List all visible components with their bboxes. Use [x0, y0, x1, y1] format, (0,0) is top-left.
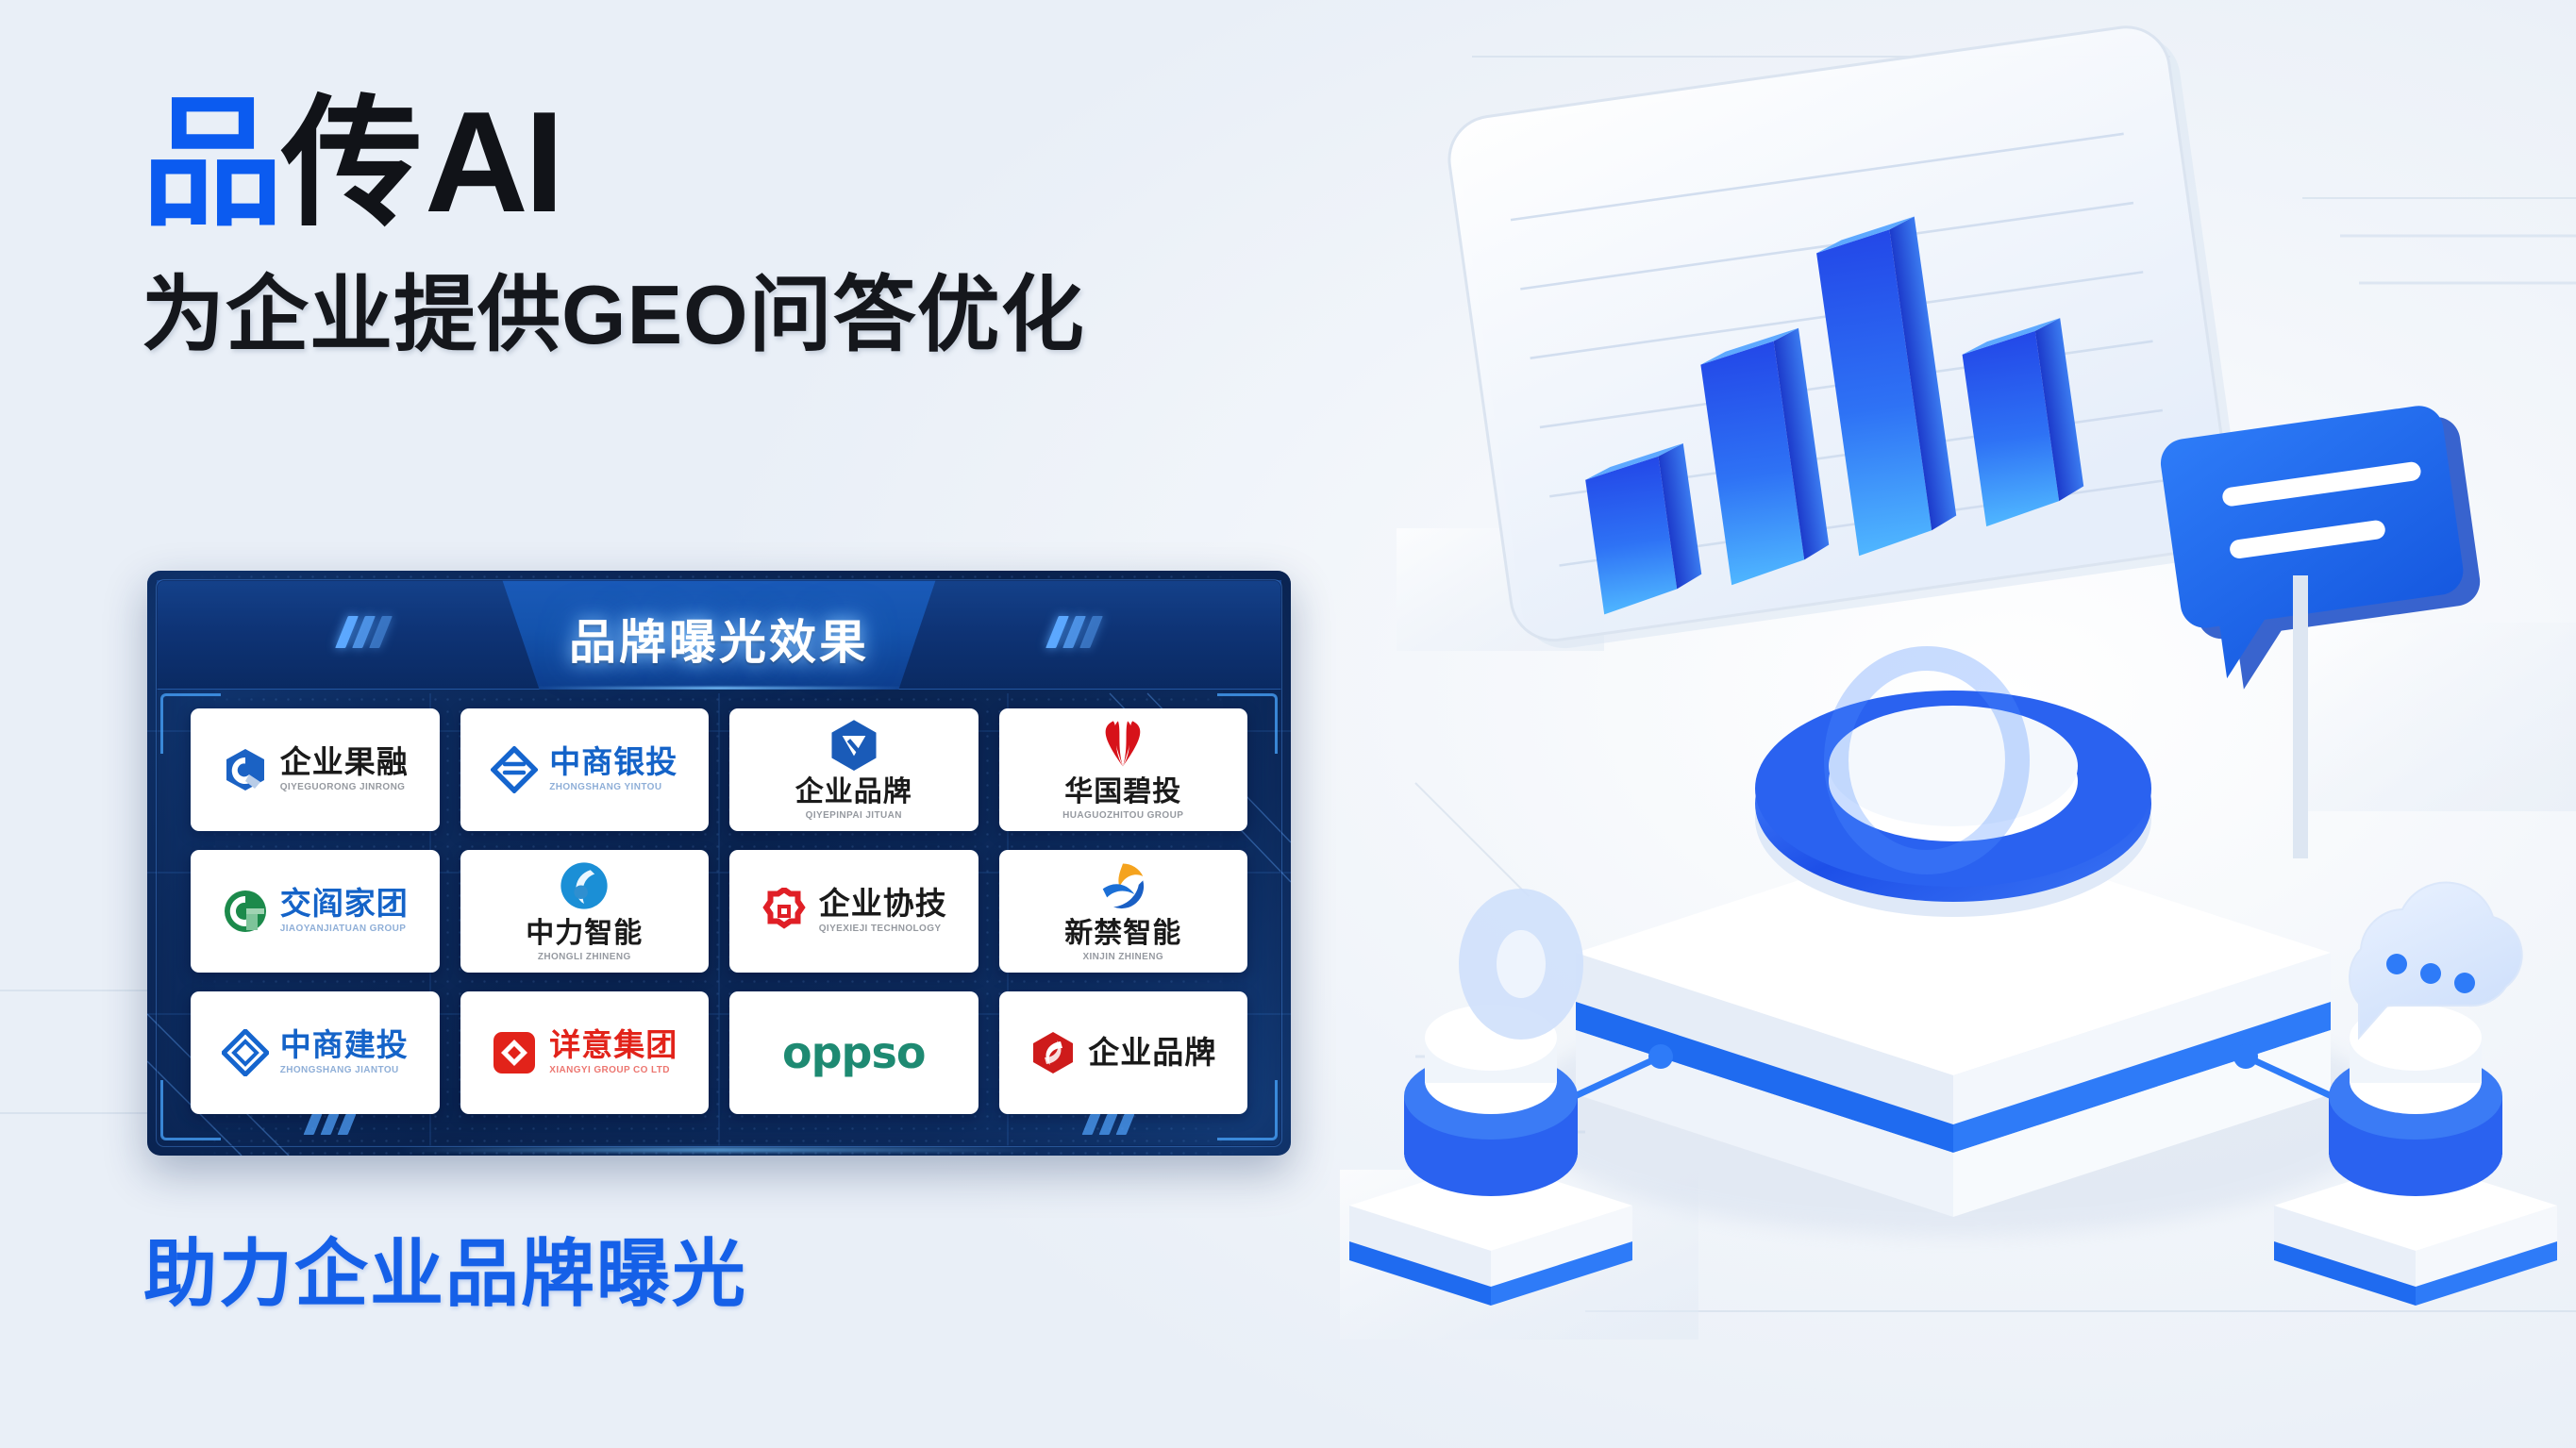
- logo-content: 中商银投ZHONGSHANG YINTOU: [481, 741, 687, 800]
- logo-name-cn: 企业协技: [819, 888, 947, 921]
- red-gear-icon: [761, 888, 808, 935]
- logo-name-cn: 企业品牌: [795, 777, 912, 807]
- logo-content: 交阎家团JIAOYANJIATUAN GROUP: [212, 882, 418, 941]
- logo-content: 中商建投ZHONGSHANG JIANTOU: [212, 1024, 418, 1083]
- logo-content: 详意集团XIANGYI GROUP CO LTD: [481, 1024, 687, 1083]
- logo-name-en: QIYEGUORONG JINRONG: [280, 781, 406, 793]
- logo-name-en: XIANGYI GROUP CO LTD: [549, 1064, 670, 1076]
- logo-card[interactable]: 企业协技QIYEXIEJI TECHNOLOGY: [729, 850, 979, 973]
- logo-name-en: XINJIN ZHINENG: [1082, 951, 1163, 963]
- logo-content: oppso: [773, 1022, 934, 1084]
- panel-bottom-glow: [399, 1148, 1040, 1152]
- logo-card[interactable]: 企业果融QIYEGUORONG JINRONG: [191, 708, 440, 831]
- logo-card[interactable]: 新禁智能XINJIN ZHINENG: [999, 850, 1248, 973]
- logo-name-en: ZHONGSHANG YINTOU: [549, 781, 661, 793]
- logo-content: 企业果融QIYEGUORONG JINRONG: [212, 741, 418, 800]
- panel-header-bar: 品牌曝光效果: [157, 580, 1281, 690]
- logo-names: 华国碧投HUAGUOZHITOU GROUP: [1062, 777, 1183, 823]
- logo-card[interactable]: 交阎家团JIAOYANJIATUAN GROUP: [191, 850, 440, 973]
- logo-wordmark: oppso: [782, 1027, 925, 1078]
- hero-footer-tagline: 助力企业品牌曝光: [143, 1215, 747, 1321]
- logo-content: 企业品牌: [1020, 1024, 1226, 1082]
- page-title: 品传AI: [142, 91, 1368, 234]
- logo-names: 企业果融QIYEGUORONG JINRONG: [280, 746, 409, 794]
- logo-name-en: ZHONGLI ZHINENG: [538, 951, 631, 963]
- logo-name-cn: 企业品牌: [1088, 1037, 1216, 1070]
- green-circle-icon: [222, 888, 269, 935]
- footer-accent-bars-left: [308, 1114, 352, 1135]
- swoosh-icon: [1096, 859, 1149, 912]
- logo-names: 企业品牌: [1088, 1037, 1216, 1070]
- red-square-icon: [491, 1029, 538, 1076]
- ring-token: [1459, 889, 1583, 1040]
- logo-names: 企业品牌QIYEPINPAI JITUAN: [795, 777, 912, 823]
- logo-card[interactable]: 中商建投ZHONGSHANG JIANTOU: [191, 991, 440, 1114]
- dashboard-card: [1444, 20, 2248, 655]
- logo-name-en: QIYEXIEJI TECHNOLOGY: [819, 923, 942, 935]
- logo-card[interactable]: 中力智能ZHONGLI ZHINENG: [460, 850, 710, 973]
- brand-exposure-panel: 品牌曝光效果 企业果融QIYEGUORONG JINRONG中商银投ZHONGS…: [147, 571, 1291, 1156]
- logo-names: 中商银投ZHONGSHANG YINTOU: [549, 746, 677, 794]
- logo-card[interactable]: 详意集团XIANGYI GROUP CO LTD: [460, 991, 710, 1114]
- hero-subtitle: 为企业提供GEO问答优化: [142, 272, 1368, 358]
- logo-card[interactable]: oppso: [729, 991, 979, 1114]
- logo-names: 交阎家团JIAOYANJIATUAN GROUP: [280, 888, 409, 936]
- logo-name-cn: 详意集团: [549, 1029, 677, 1062]
- logo-name-en: HUAGUOZHITOU GROUP: [1062, 809, 1183, 822]
- logo-name-cn: 企业果融: [280, 746, 409, 779]
- red-swirl-icon: [1029, 1029, 1077, 1076]
- logo-content: 企业协技QIYEXIEJI TECHNOLOGY: [751, 882, 957, 941]
- brand-name-suffix: AI: [425, 91, 560, 234]
- cloud-dot-1: [2386, 954, 2407, 974]
- teal-orb-icon: [558, 859, 611, 912]
- hex-arrow-icon: [828, 718, 880, 771]
- logo-name-cn: 中商银投: [549, 746, 677, 779]
- logo-grid: 企业果融QIYEGUORONG JINRONG中商银投ZHONGSHANG YI…: [191, 708, 1247, 1114]
- hero-text-block: 品传AI 为企业提供GEO问答优化: [142, 91, 1368, 358]
- speech-bubble: [2158, 401, 2491, 697]
- cloud-dot-2: [2420, 963, 2441, 984]
- logo-card[interactable]: 中商银投ZHONGSHANG YINTOU: [460, 708, 710, 831]
- logo-card[interactable]: 企业品牌QIYEPINPAI JITUAN: [729, 708, 979, 831]
- logo-name-en: ZHONGSHANG JIANTOU: [280, 1064, 399, 1076]
- logo-name-cn: 中力智能: [526, 919, 643, 949]
- logo-names: 企业协技QIYEXIEJI TECHNOLOGY: [819, 888, 947, 936]
- logo-content: 新禁智能XINJIN ZHINENG: [1055, 854, 1191, 970]
- c-shield-icon: [222, 746, 269, 793]
- logo-name-cn: 华国碧投: [1064, 777, 1181, 807]
- blue-ring: [1755, 658, 2151, 917]
- logo-names: 中商建投ZHONGSHANG JIANTOU: [280, 1029, 409, 1077]
- logo-name-en: JIAOYANJIATUAN GROUP: [280, 923, 407, 935]
- logo-content: 华国碧投HUAGUOZHITOU GROUP: [1053, 712, 1193, 828]
- logo-name-cn: 交阎家团: [280, 888, 409, 921]
- brand-mark-char: 品: [142, 92, 281, 234]
- logo-card[interactable]: 华国碧投HUAGUOZHITOU GROUP: [999, 708, 1248, 831]
- logo-content: 企业品牌QIYEPINPAI JITUAN: [786, 712, 922, 828]
- footer-accent-bars-right: [1086, 1114, 1130, 1135]
- diamond-outline-icon: [222, 1029, 269, 1076]
- cloud-dot-3: [2454, 973, 2475, 993]
- logo-names: 详意集团XIANGYI GROUP CO LTD: [549, 1029, 677, 1077]
- red-petal-icon: [1096, 718, 1149, 771]
- bubble-stem: [2293, 575, 2308, 858]
- logo-content: 中力智能ZHONGLI ZHINENG: [516, 854, 652, 970]
- diamond-s-icon: [491, 746, 538, 793]
- logo-name-en: QIYEPINPAI JITUAN: [806, 809, 902, 822]
- hero-illustration: [1349, 0, 2576, 1448]
- logo-names: 中力智能ZHONGLI ZHINENG: [526, 919, 643, 964]
- logo-name-cn: 新禁智能: [1064, 919, 1181, 949]
- brand-name-char: 传: [281, 92, 421, 234]
- logo-names: 新禁智能XINJIN ZHINENG: [1064, 919, 1181, 964]
- panel-header-title: 品牌曝光效果: [157, 605, 1281, 673]
- logo-card[interactable]: 企业品牌: [999, 991, 1248, 1114]
- logo-name-cn: 中商建投: [280, 1029, 409, 1062]
